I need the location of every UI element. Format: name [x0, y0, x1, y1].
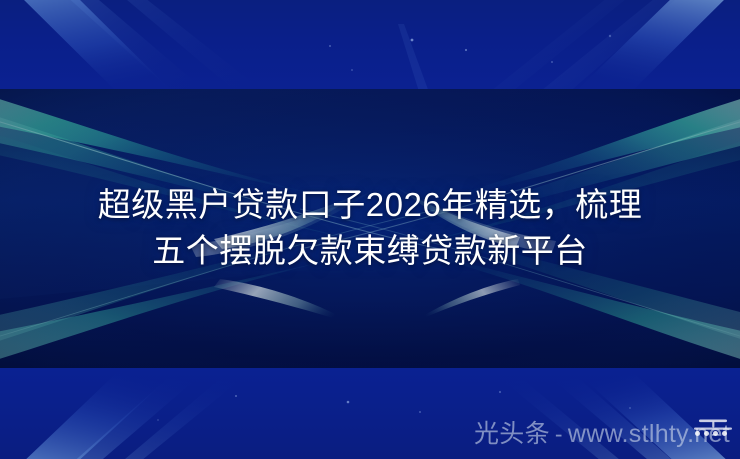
watermark-site-name: 光头条: [474, 422, 550, 447]
watermark-separator: -: [550, 423, 568, 446]
background-band-top: [0, 0, 740, 89]
site-watermark: 光头条 - www.stlhty.net: [474, 422, 730, 447]
title-line-1: 超级黑户贷款口子2026年精选，梳理: [0, 182, 740, 228]
cover-title: 超级黑户贷款口子2026年精选，梳理 五个摆脱欠款束缚贷款新平台: [0, 182, 740, 274]
cover-image: 超级黑户贷款口子2026年精选，梳理 五个摆脱欠款束缚贷款新平台 光头条 - w…: [0, 0, 740, 459]
watermark-url: www.stlhty.net: [568, 422, 730, 447]
title-line-2: 五个摆脱欠款束缚贷款新平台: [0, 228, 740, 274]
top-band-streaks: [0, 0, 740, 89]
